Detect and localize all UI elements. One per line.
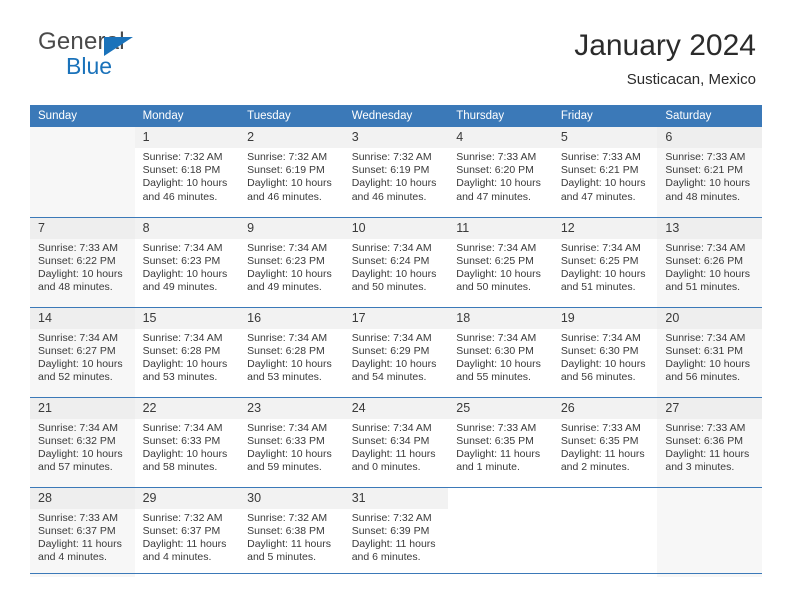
sunrise-time: Sunrise: 7:34 AM xyxy=(143,422,234,435)
sunrise-time: Sunrise: 7:34 AM xyxy=(38,332,129,345)
sun-info: Sunrise: 7:34 AMSunset: 6:28 PMDaylight:… xyxy=(135,329,240,385)
day-cell[interactable]: 10Sunrise: 7:34 AMSunset: 6:24 PMDayligh… xyxy=(344,217,449,307)
daylight-duration-line2: and 54 minutes. xyxy=(352,371,443,384)
day-cell xyxy=(448,487,553,577)
daylight-duration-line2: and 0 minutes. xyxy=(352,461,443,474)
day-cell-content: 2Sunrise: 7:32 AMSunset: 6:19 PMDaylight… xyxy=(239,127,344,217)
sunrise-time: Sunrise: 7:34 AM xyxy=(352,422,443,435)
logo-text-blue: Blue xyxy=(66,54,112,78)
day-cell[interactable]: 15Sunrise: 7:34 AMSunset: 6:28 PMDayligh… xyxy=(135,307,240,397)
daylight-duration-line1: Daylight: 10 hours xyxy=(143,448,234,461)
page-header: General Blue January 2024 Susticacan, Me… xyxy=(0,0,792,100)
day-cell xyxy=(553,487,658,577)
daylight-duration-line1: Daylight: 10 hours xyxy=(38,448,129,461)
sunset-time: Sunset: 6:29 PM xyxy=(352,345,443,358)
daylight-duration-line1: Daylight: 11 hours xyxy=(143,538,234,551)
sunset-time: Sunset: 6:26 PM xyxy=(665,255,756,268)
sunset-time: Sunset: 6:25 PM xyxy=(456,255,547,268)
sunrise-time: Sunrise: 7:33 AM xyxy=(38,242,129,255)
daylight-duration-line1: Daylight: 10 hours xyxy=(456,177,547,190)
day-cell[interactable]: 16Sunrise: 7:34 AMSunset: 6:28 PMDayligh… xyxy=(239,307,344,397)
day-cell[interactable]: 11Sunrise: 7:34 AMSunset: 6:25 PMDayligh… xyxy=(448,217,553,307)
day-number: 17 xyxy=(344,308,449,329)
day-cell[interactable]: 24Sunrise: 7:34 AMSunset: 6:34 PMDayligh… xyxy=(344,397,449,487)
daylight-duration-line2: and 49 minutes. xyxy=(143,281,234,294)
day-number: 27 xyxy=(657,398,762,419)
day-cell[interactable]: 17Sunrise: 7:34 AMSunset: 6:29 PMDayligh… xyxy=(344,307,449,397)
daylight-duration-line1: Daylight: 11 hours xyxy=(456,448,547,461)
sun-info: Sunrise: 7:33 AMSunset: 6:22 PMDaylight:… xyxy=(30,239,135,295)
sun-info: Sunrise: 7:34 AMSunset: 6:32 PMDaylight:… xyxy=(30,419,135,475)
day-cell[interactable]: 28Sunrise: 7:33 AMSunset: 6:37 PMDayligh… xyxy=(30,487,135,577)
sunset-time: Sunset: 6:21 PM xyxy=(561,164,652,177)
week-row: 7Sunrise: 7:33 AMSunset: 6:22 PMDaylight… xyxy=(30,217,762,307)
sunset-time: Sunset: 6:25 PM xyxy=(561,255,652,268)
day-cell[interactable]: 20Sunrise: 7:34 AMSunset: 6:31 PMDayligh… xyxy=(657,307,762,397)
day-number: 29 xyxy=(135,488,240,509)
day-cell-content: 4Sunrise: 7:33 AMSunset: 6:20 PMDaylight… xyxy=(448,127,553,217)
daylight-duration-line2: and 4 minutes. xyxy=(38,551,129,564)
day-cell-content: 10Sunrise: 7:34 AMSunset: 6:24 PMDayligh… xyxy=(344,218,449,307)
sun-info: Sunrise: 7:33 AMSunset: 6:35 PMDaylight:… xyxy=(553,419,658,475)
weekday-header-tuesday: Tuesday xyxy=(239,105,344,127)
sunrise-time: Sunrise: 7:34 AM xyxy=(352,242,443,255)
week-row: 14Sunrise: 7:34 AMSunset: 6:27 PMDayligh… xyxy=(30,307,762,397)
sunrise-time: Sunrise: 7:32 AM xyxy=(247,512,338,525)
sunset-time: Sunset: 6:19 PM xyxy=(352,164,443,177)
daylight-duration-line2: and 53 minutes. xyxy=(143,371,234,384)
day-cell-content: 19Sunrise: 7:34 AMSunset: 6:30 PMDayligh… xyxy=(553,308,658,397)
day-cell[interactable]: 21Sunrise: 7:34 AMSunset: 6:32 PMDayligh… xyxy=(30,397,135,487)
weekday-header-saturday: Saturday xyxy=(657,105,762,127)
sunset-time: Sunset: 6:31 PM xyxy=(665,345,756,358)
day-number: 21 xyxy=(30,398,135,419)
day-cell[interactable]: 29Sunrise: 7:32 AMSunset: 6:37 PMDayligh… xyxy=(135,487,240,577)
sunrise-time: Sunrise: 7:34 AM xyxy=(665,332,756,345)
sun-info: Sunrise: 7:34 AMSunset: 6:25 PMDaylight:… xyxy=(448,239,553,295)
day-cell-content: 17Sunrise: 7:34 AMSunset: 6:29 PMDayligh… xyxy=(344,308,449,397)
sunset-time: Sunset: 6:19 PM xyxy=(247,164,338,177)
sunrise-time: Sunrise: 7:34 AM xyxy=(352,332,443,345)
day-number: 22 xyxy=(135,398,240,419)
daylight-duration-line2: and 49 minutes. xyxy=(247,281,338,294)
sun-info: Sunrise: 7:33 AMSunset: 6:21 PMDaylight:… xyxy=(553,148,658,204)
sunrise-time: Sunrise: 7:34 AM xyxy=(247,332,338,345)
daylight-duration-line1: Daylight: 11 hours xyxy=(38,538,129,551)
sun-info: Sunrise: 7:34 AMSunset: 6:23 PMDaylight:… xyxy=(135,239,240,295)
weekday-header-friday: Friday xyxy=(553,105,658,127)
sun-info: Sunrise: 7:33 AMSunset: 6:35 PMDaylight:… xyxy=(448,419,553,475)
daylight-duration-line1: Daylight: 10 hours xyxy=(247,177,338,190)
sun-info: Sunrise: 7:32 AMSunset: 6:19 PMDaylight:… xyxy=(344,148,449,204)
daylight-duration-line2: and 48 minutes. xyxy=(665,191,756,204)
sunset-time: Sunset: 6:27 PM xyxy=(38,345,129,358)
day-number: 11 xyxy=(448,218,553,239)
sunset-time: Sunset: 6:36 PM xyxy=(665,435,756,448)
day-cell-content: 12Sunrise: 7:34 AMSunset: 6:25 PMDayligh… xyxy=(553,218,658,307)
day-cell-content: 14Sunrise: 7:34 AMSunset: 6:27 PMDayligh… xyxy=(30,308,135,397)
month-grid: Sunday Monday Tuesday Wednesday Thursday… xyxy=(30,105,762,577)
sunset-time: Sunset: 6:33 PM xyxy=(247,435,338,448)
daylight-duration-line2: and 59 minutes. xyxy=(247,461,338,474)
day-cell[interactable]: 1Sunrise: 7:32 AMSunset: 6:18 PMDaylight… xyxy=(135,127,240,217)
day-number xyxy=(448,488,553,509)
sunset-time: Sunset: 6:35 PM xyxy=(456,435,547,448)
day-number: 25 xyxy=(448,398,553,419)
daylight-duration-line2: and 58 minutes. xyxy=(143,461,234,474)
day-cell[interactable]: 19Sunrise: 7:34 AMSunset: 6:30 PMDayligh… xyxy=(553,307,658,397)
sunrise-time: Sunrise: 7:34 AM xyxy=(247,242,338,255)
week-row: 1Sunrise: 7:32 AMSunset: 6:18 PMDaylight… xyxy=(30,127,762,217)
day-cell-content: 25Sunrise: 7:33 AMSunset: 6:35 PMDayligh… xyxy=(448,398,553,487)
day-cell-empty xyxy=(448,488,553,578)
sunrise-time: Sunrise: 7:32 AM xyxy=(143,512,234,525)
daylight-duration-line2: and 55 minutes. xyxy=(456,371,547,384)
day-number: 8 xyxy=(135,218,240,239)
sun-info: Sunrise: 7:34 AMSunset: 6:27 PMDaylight:… xyxy=(30,329,135,385)
day-cell[interactable]: 26Sunrise: 7:33 AMSunset: 6:35 PMDayligh… xyxy=(553,397,658,487)
day-cell xyxy=(657,487,762,577)
day-cell-content: 24Sunrise: 7:34 AMSunset: 6:34 PMDayligh… xyxy=(344,398,449,487)
sunset-time: Sunset: 6:34 PM xyxy=(352,435,443,448)
day-number: 18 xyxy=(448,308,553,329)
day-cell-content: 20Sunrise: 7:34 AMSunset: 6:31 PMDayligh… xyxy=(657,308,762,397)
day-cell[interactable]: 12Sunrise: 7:34 AMSunset: 6:25 PMDayligh… xyxy=(553,217,658,307)
daylight-duration-line1: Daylight: 11 hours xyxy=(352,538,443,551)
daylight-duration-line1: Daylight: 10 hours xyxy=(561,358,652,371)
daylight-duration-line2: and 46 minutes. xyxy=(352,191,443,204)
sunrise-time: Sunrise: 7:33 AM xyxy=(38,512,129,525)
sunset-time: Sunset: 6:28 PM xyxy=(143,345,234,358)
sunset-time: Sunset: 6:37 PM xyxy=(143,525,234,538)
day-number: 5 xyxy=(553,127,658,148)
daylight-duration-line2: and 4 minutes. xyxy=(143,551,234,564)
day-cell-content: 26Sunrise: 7:33 AMSunset: 6:35 PMDayligh… xyxy=(553,398,658,487)
day-cell[interactable]: 25Sunrise: 7:33 AMSunset: 6:35 PMDayligh… xyxy=(448,397,553,487)
daylight-duration-line2: and 50 minutes. xyxy=(456,281,547,294)
day-cell-content: 7Sunrise: 7:33 AMSunset: 6:22 PMDaylight… xyxy=(30,218,135,307)
week-row: 28Sunrise: 7:33 AMSunset: 6:37 PMDayligh… xyxy=(30,487,762,577)
day-cell[interactable]: 18Sunrise: 7:34 AMSunset: 6:30 PMDayligh… xyxy=(448,307,553,397)
weekday-header-thursday: Thursday xyxy=(448,105,553,127)
daylight-duration-line2: and 52 minutes. xyxy=(38,371,129,384)
grid-bottom-divider xyxy=(30,573,762,574)
sun-info: Sunrise: 7:32 AMSunset: 6:18 PMDaylight:… xyxy=(135,148,240,204)
daylight-duration-line2: and 51 minutes. xyxy=(561,281,652,294)
daylight-duration-line2: and 46 minutes. xyxy=(247,191,338,204)
sun-info: Sunrise: 7:34 AMSunset: 6:28 PMDaylight:… xyxy=(239,329,344,385)
daylight-duration-line1: Daylight: 11 hours xyxy=(247,538,338,551)
day-cell[interactable]: 6Sunrise: 7:33 AMSunset: 6:21 PMDaylight… xyxy=(657,127,762,217)
day-cell-content: 11Sunrise: 7:34 AMSunset: 6:25 PMDayligh… xyxy=(448,218,553,307)
sunrise-time: Sunrise: 7:33 AM xyxy=(665,151,756,164)
daylight-duration-line1: Daylight: 10 hours xyxy=(561,177,652,190)
sunset-time: Sunset: 6:30 PM xyxy=(456,345,547,358)
weekday-header-sunday: Sunday xyxy=(30,105,135,127)
sunrise-time: Sunrise: 7:32 AM xyxy=(247,151,338,164)
day-cell-content: 30Sunrise: 7:32 AMSunset: 6:38 PMDayligh… xyxy=(239,488,344,578)
day-cell[interactable]: 13Sunrise: 7:34 AMSunset: 6:26 PMDayligh… xyxy=(657,217,762,307)
weekday-header-row: Sunday Monday Tuesday Wednesday Thursday… xyxy=(30,105,762,127)
day-number: 13 xyxy=(657,218,762,239)
sunset-time: Sunset: 6:28 PM xyxy=(247,345,338,358)
day-cell-content: 29Sunrise: 7:32 AMSunset: 6:37 PMDayligh… xyxy=(135,488,240,578)
sunrise-time: Sunrise: 7:33 AM xyxy=(561,422,652,435)
day-cell[interactable]: 14Sunrise: 7:34 AMSunset: 6:27 PMDayligh… xyxy=(30,307,135,397)
sun-info: Sunrise: 7:34 AMSunset: 6:29 PMDaylight:… xyxy=(344,329,449,385)
day-number: 23 xyxy=(239,398,344,419)
day-number: 30 xyxy=(239,488,344,509)
sun-info: Sunrise: 7:34 AMSunset: 6:23 PMDaylight:… xyxy=(239,239,344,295)
sunset-time: Sunset: 6:23 PM xyxy=(247,255,338,268)
day-number: 24 xyxy=(344,398,449,419)
daylight-duration-line1: Daylight: 10 hours xyxy=(352,358,443,371)
day-number: 19 xyxy=(553,308,658,329)
sun-info: Sunrise: 7:33 AMSunset: 6:36 PMDaylight:… xyxy=(657,419,762,475)
sunset-time: Sunset: 6:24 PM xyxy=(352,255,443,268)
sunrise-time: Sunrise: 7:34 AM xyxy=(561,242,652,255)
sunrise-time: Sunrise: 7:34 AM xyxy=(247,422,338,435)
sunset-time: Sunset: 6:30 PM xyxy=(561,345,652,358)
sunset-time: Sunset: 6:32 PM xyxy=(38,435,129,448)
sun-info: Sunrise: 7:34 AMSunset: 6:30 PMDaylight:… xyxy=(553,329,658,385)
day-number: 12 xyxy=(553,218,658,239)
daylight-duration-line1: Daylight: 10 hours xyxy=(561,268,652,281)
day-cell-content: 13Sunrise: 7:34 AMSunset: 6:26 PMDayligh… xyxy=(657,218,762,307)
daylight-duration-line1: Daylight: 10 hours xyxy=(38,268,129,281)
day-cell-content: 21Sunrise: 7:34 AMSunset: 6:32 PMDayligh… xyxy=(30,398,135,487)
daylight-duration-line1: Daylight: 10 hours xyxy=(143,177,234,190)
day-cell-content: 22Sunrise: 7:34 AMSunset: 6:33 PMDayligh… xyxy=(135,398,240,487)
sun-info: Sunrise: 7:34 AMSunset: 6:24 PMDaylight:… xyxy=(344,239,449,295)
weekday-header-wednesday: Wednesday xyxy=(344,105,449,127)
day-number: 20 xyxy=(657,308,762,329)
day-number xyxy=(657,488,762,509)
daylight-duration-line2: and 47 minutes. xyxy=(561,191,652,204)
day-cell-content: 6Sunrise: 7:33 AMSunset: 6:21 PMDaylight… xyxy=(657,127,762,217)
sunrise-time: Sunrise: 7:33 AM xyxy=(665,422,756,435)
day-cell[interactable]: 27Sunrise: 7:33 AMSunset: 6:36 PMDayligh… xyxy=(657,397,762,487)
daylight-duration-line2: and 50 minutes. xyxy=(352,281,443,294)
sunset-time: Sunset: 6:23 PM xyxy=(143,255,234,268)
daylight-duration-line1: Daylight: 10 hours xyxy=(456,268,547,281)
day-cell[interactable]: 5Sunrise: 7:33 AMSunset: 6:21 PMDaylight… xyxy=(553,127,658,217)
calendar-page: General Blue January 2024 Susticacan, Me… xyxy=(0,0,792,612)
daylight-duration-line1: Daylight: 11 hours xyxy=(665,448,756,461)
sunset-time: Sunset: 6:35 PM xyxy=(561,435,652,448)
day-cell[interactable]: 30Sunrise: 7:32 AMSunset: 6:38 PMDayligh… xyxy=(239,487,344,577)
sun-info: Sunrise: 7:34 AMSunset: 6:30 PMDaylight:… xyxy=(448,329,553,385)
day-cell-empty xyxy=(553,488,658,578)
page-subtitle: Susticacan, Mexico xyxy=(574,71,756,88)
daylight-duration-line1: Daylight: 10 hours xyxy=(665,358,756,371)
sun-info: Sunrise: 7:32 AMSunset: 6:37 PMDaylight:… xyxy=(135,509,240,565)
daylight-duration-line1: Daylight: 10 hours xyxy=(456,358,547,371)
daylight-duration-line2: and 5 minutes. xyxy=(247,551,338,564)
day-cell-content: 18Sunrise: 7:34 AMSunset: 6:30 PMDayligh… xyxy=(448,308,553,397)
daylight-duration-line1: Daylight: 10 hours xyxy=(352,268,443,281)
sunrise-time: Sunrise: 7:33 AM xyxy=(561,151,652,164)
sunset-time: Sunset: 6:21 PM xyxy=(665,164,756,177)
day-cell-content: 27Sunrise: 7:33 AMSunset: 6:36 PMDayligh… xyxy=(657,398,762,487)
day-number: 7 xyxy=(30,218,135,239)
sunrise-time: Sunrise: 7:32 AM xyxy=(352,512,443,525)
day-cell-content: 31Sunrise: 7:32 AMSunset: 6:39 PMDayligh… xyxy=(344,488,449,578)
daylight-duration-line2: and 6 minutes. xyxy=(352,551,443,564)
daylight-duration-line1: Daylight: 11 hours xyxy=(352,448,443,461)
sun-info: Sunrise: 7:33 AMSunset: 6:21 PMDaylight:… xyxy=(657,148,762,204)
day-cell-content: 1Sunrise: 7:32 AMSunset: 6:18 PMDaylight… xyxy=(135,127,240,217)
sunset-time: Sunset: 6:37 PM xyxy=(38,525,129,538)
sun-info: Sunrise: 7:32 AMSunset: 6:39 PMDaylight:… xyxy=(344,509,449,565)
daylight-duration-line2: and 46 minutes. xyxy=(143,191,234,204)
sunrise-time: Sunrise: 7:32 AM xyxy=(143,151,234,164)
sun-info: Sunrise: 7:34 AMSunset: 6:33 PMDaylight:… xyxy=(135,419,240,475)
day-number: 4 xyxy=(448,127,553,148)
title-block: January 2024 Susticacan, Mexico xyxy=(574,28,756,88)
sunset-time: Sunset: 6:20 PM xyxy=(456,164,547,177)
day-cell[interactable]: 4Sunrise: 7:33 AMSunset: 6:20 PMDaylight… xyxy=(448,127,553,217)
daylight-duration-line1: Daylight: 10 hours xyxy=(143,268,234,281)
day-cell[interactable]: 31Sunrise: 7:32 AMSunset: 6:39 PMDayligh… xyxy=(344,487,449,577)
sunset-time: Sunset: 6:22 PM xyxy=(38,255,129,268)
day-cell-empty xyxy=(30,127,135,217)
day-cell-content: 23Sunrise: 7:34 AMSunset: 6:33 PMDayligh… xyxy=(239,398,344,487)
day-number: 16 xyxy=(239,308,344,329)
sunset-time: Sunset: 6:33 PM xyxy=(143,435,234,448)
daylight-duration-line2: and 3 minutes. xyxy=(665,461,756,474)
page-title: January 2024 xyxy=(574,28,756,64)
day-number: 10 xyxy=(344,218,449,239)
day-cell-empty xyxy=(657,488,762,578)
daylight-duration-line1: Daylight: 10 hours xyxy=(247,358,338,371)
daylight-duration-line1: Daylight: 10 hours xyxy=(665,268,756,281)
sun-info: Sunrise: 7:34 AMSunset: 6:25 PMDaylight:… xyxy=(553,239,658,295)
daylight-duration-line2: and 1 minute. xyxy=(456,461,547,474)
sun-info: Sunrise: 7:34 AMSunset: 6:33 PMDaylight:… xyxy=(239,419,344,475)
sunrise-time: Sunrise: 7:34 AM xyxy=(561,332,652,345)
day-number: 6 xyxy=(657,127,762,148)
day-cell xyxy=(30,127,135,217)
day-cell[interactable]: 8Sunrise: 7:34 AMSunset: 6:23 PMDaylight… xyxy=(135,217,240,307)
day-number: 28 xyxy=(30,488,135,509)
day-number: 31 xyxy=(344,488,449,509)
daylight-duration-line2: and 47 minutes. xyxy=(456,191,547,204)
day-cell-content: 3Sunrise: 7:32 AMSunset: 6:19 PMDaylight… xyxy=(344,127,449,217)
sun-info: Sunrise: 7:34 AMSunset: 6:34 PMDaylight:… xyxy=(344,419,449,475)
daylight-duration-line1: Daylight: 11 hours xyxy=(561,448,652,461)
day-number: 26 xyxy=(553,398,658,419)
daylight-duration-line2: and 2 minutes. xyxy=(561,461,652,474)
daylight-duration-line1: Daylight: 10 hours xyxy=(247,448,338,461)
day-number: 3 xyxy=(344,127,449,148)
sunrise-time: Sunrise: 7:34 AM xyxy=(456,332,547,345)
daylight-duration-line1: Daylight: 10 hours xyxy=(352,177,443,190)
daylight-duration-line1: Daylight: 10 hours xyxy=(247,268,338,281)
sun-info: Sunrise: 7:33 AMSunset: 6:20 PMDaylight:… xyxy=(448,148,553,204)
sunrise-time: Sunrise: 7:34 AM xyxy=(143,242,234,255)
daylight-duration-line1: Daylight: 10 hours xyxy=(38,358,129,371)
day-cell[interactable]: 9Sunrise: 7:34 AMSunset: 6:23 PMDaylight… xyxy=(239,217,344,307)
sunrise-time: Sunrise: 7:33 AM xyxy=(456,422,547,435)
daylight-duration-line2: and 57 minutes. xyxy=(38,461,129,474)
day-number xyxy=(553,488,658,509)
sunrise-time: Sunrise: 7:33 AM xyxy=(456,151,547,164)
daylight-duration-line2: and 53 minutes. xyxy=(247,371,338,384)
sunrise-time: Sunrise: 7:34 AM xyxy=(143,332,234,345)
day-cell-content: 9Sunrise: 7:34 AMSunset: 6:23 PMDaylight… xyxy=(239,218,344,307)
day-cell[interactable]: 22Sunrise: 7:34 AMSunset: 6:33 PMDayligh… xyxy=(135,397,240,487)
day-number: 14 xyxy=(30,308,135,329)
daylight-duration-line2: and 51 minutes. xyxy=(665,281,756,294)
sunset-time: Sunset: 6:18 PM xyxy=(143,164,234,177)
sun-info: Sunrise: 7:32 AMSunset: 6:19 PMDaylight:… xyxy=(239,148,344,204)
day-cell-content: 15Sunrise: 7:34 AMSunset: 6:28 PMDayligh… xyxy=(135,308,240,397)
weekday-header-monday: Monday xyxy=(135,105,240,127)
day-cell[interactable]: 7Sunrise: 7:33 AMSunset: 6:22 PMDaylight… xyxy=(30,217,135,307)
day-cell-content: 5Sunrise: 7:33 AMSunset: 6:21 PMDaylight… xyxy=(553,127,658,217)
day-number xyxy=(30,127,135,148)
sun-info: Sunrise: 7:33 AMSunset: 6:37 PMDaylight:… xyxy=(30,509,135,565)
sunrise-time: Sunrise: 7:34 AM xyxy=(456,242,547,255)
day-number: 15 xyxy=(135,308,240,329)
day-number: 2 xyxy=(239,127,344,148)
day-number: 9 xyxy=(239,218,344,239)
day-cell-content: 28Sunrise: 7:33 AMSunset: 6:37 PMDayligh… xyxy=(30,488,135,578)
day-cell[interactable]: 23Sunrise: 7:34 AMSunset: 6:33 PMDayligh… xyxy=(239,397,344,487)
sun-info: Sunrise: 7:34 AMSunset: 6:31 PMDaylight:… xyxy=(657,329,762,385)
daylight-duration-line2: and 48 minutes. xyxy=(38,281,129,294)
sunset-time: Sunset: 6:38 PM xyxy=(247,525,338,538)
day-cell[interactable]: 2Sunrise: 7:32 AMSunset: 6:19 PMDaylight… xyxy=(239,127,344,217)
week-row: 21Sunrise: 7:34 AMSunset: 6:32 PMDayligh… xyxy=(30,397,762,487)
general-blue-logo[interactable]: General Blue xyxy=(38,30,158,82)
sunrise-time: Sunrise: 7:32 AM xyxy=(352,151,443,164)
day-cell-content: 8Sunrise: 7:34 AMSunset: 6:23 PMDaylight… xyxy=(135,218,240,307)
sunrise-time: Sunrise: 7:34 AM xyxy=(38,422,129,435)
daylight-duration-line1: Daylight: 10 hours xyxy=(665,177,756,190)
day-cell-content: 16Sunrise: 7:34 AMSunset: 6:28 PMDayligh… xyxy=(239,308,344,397)
sun-info: Sunrise: 7:34 AMSunset: 6:26 PMDaylight:… xyxy=(657,239,762,295)
sun-info: Sunrise: 7:32 AMSunset: 6:38 PMDaylight:… xyxy=(239,509,344,565)
sunrise-time: Sunrise: 7:34 AM xyxy=(665,242,756,255)
daylight-duration-line1: Daylight: 10 hours xyxy=(143,358,234,371)
day-cell[interactable]: 3Sunrise: 7:32 AMSunset: 6:19 PMDaylight… xyxy=(344,127,449,217)
daylight-duration-line2: and 56 minutes. xyxy=(561,371,652,384)
day-number: 1 xyxy=(135,127,240,148)
daylight-duration-line2: and 56 minutes. xyxy=(665,371,756,384)
sunset-time: Sunset: 6:39 PM xyxy=(352,525,443,538)
